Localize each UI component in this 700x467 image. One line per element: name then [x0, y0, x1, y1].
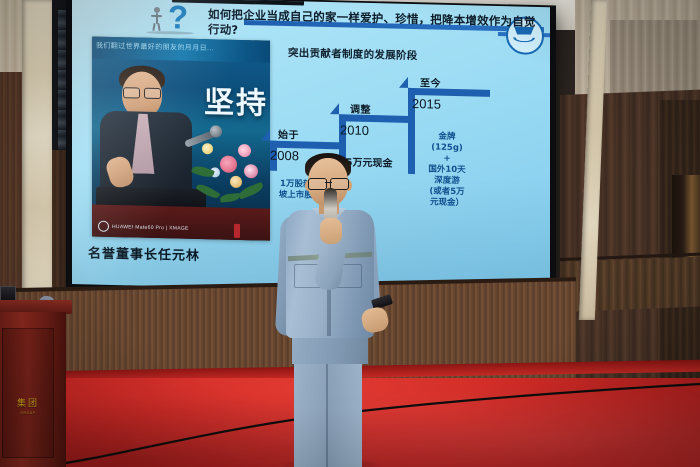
photo-banner-text: 我们翻过世界最好的朋友的月月日... — [96, 41, 214, 54]
presenter — [272, 158, 390, 467]
stair-chart-title: 突出贡献者制度的发展阶段 — [288, 45, 418, 63]
slide-section-label-text: 突出贡献制度的来源 — [197, 0, 278, 3]
photo-big-characters: 坚持 — [204, 77, 268, 123]
photo-banner: 我们翻过世界最好的朋友的月月日... — [92, 36, 270, 62]
lectern: 集团 GROUP — [0, 300, 72, 467]
question-mark-glyph: ? — [168, 0, 188, 33]
stair-step-3-stage: 至今 — [420, 74, 441, 89]
photo-person-glasses — [123, 87, 161, 97]
stair-step-1-stage: 始于 — [278, 126, 299, 141]
stair-step-3-year: 2015 — [412, 96, 441, 112]
person-question-icon: ? — [144, 1, 200, 38]
chairman-photo: 我们翻过世界最好的朋友的月月日... 坚持 — [92, 36, 270, 240]
photo-watermark-text: HUAWEI Mate60 Pro | XMAGE — [112, 223, 189, 231]
presenter-glasses — [308, 178, 349, 188]
photo-caption: 名誉董事长任元林 — [88, 242, 200, 264]
stair-step-2-stage: 调整 — [350, 101, 371, 116]
slide-question-title: 如何把企业当成自己的家一样爱护、珍惜，把降本增效作为自觉行动? — [208, 7, 538, 45]
presenter-mic-hand — [320, 218, 342, 244]
lectern-gold-text: 集团 GROUP — [2, 396, 54, 415]
photo-flower-bouquet — [190, 137, 268, 215]
photo-watermark: HUAWEI Mate60 Pro | XMAGE — [98, 221, 189, 234]
stair-step-2-year: 2010 — [340, 122, 369, 138]
conference-hall-scene: 突出贡献制度的来源 ? 如何把企业当成自己的家一样爱护、珍惜，把降本增效作为自觉… — [0, 0, 700, 467]
stair-step-3-detail: 金牌 (125g) + 国外10天 深度游 (或者5万 元现金） — [410, 131, 484, 210]
